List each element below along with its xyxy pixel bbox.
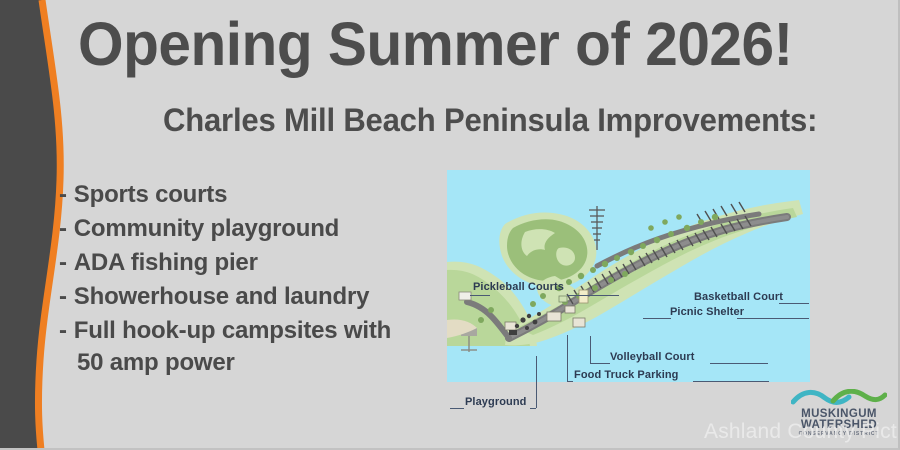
list-item: - Sports courts bbox=[59, 180, 459, 210]
wave-icon bbox=[791, 389, 887, 408]
improvements-list: - Sports courts - Community playground -… bbox=[59, 180, 459, 378]
list-item: - ADA fishing pier bbox=[59, 248, 459, 278]
list-item: - Community playground bbox=[59, 214, 459, 244]
leader-line-foodtruck-vert bbox=[567, 335, 568, 382]
bullet-dash: - bbox=[59, 248, 67, 278]
leader-line-volleyball bbox=[590, 363, 610, 364]
bullet-dash: - bbox=[59, 282, 67, 312]
bullet-dash: - bbox=[59, 316, 67, 346]
map-label-pickleball-courts: Pickleball Courts bbox=[473, 281, 564, 293]
map-label-playground: Playground bbox=[465, 396, 527, 408]
leader-line-picnic-left bbox=[643, 318, 671, 319]
leader-line-playground-vert bbox=[536, 356, 537, 408]
bullet-dash: - bbox=[59, 214, 67, 244]
list-item-continuation: 50 amp power bbox=[59, 348, 459, 378]
list-item-label: Sports courts bbox=[74, 180, 459, 210]
leader-line-volleyball-vert bbox=[590, 336, 591, 364]
leader-line-picnic bbox=[737, 318, 809, 319]
list-item-label: Community playground bbox=[74, 214, 459, 244]
list-item-label: ADA fishing pier bbox=[74, 248, 459, 278]
leader-line-playground-left bbox=[450, 408, 464, 409]
subheadline: Charles Mill Beach Peninsula Improvement… bbox=[163, 104, 900, 136]
map-label-volleyball-court: Volleyball Court bbox=[610, 351, 695, 363]
list-item: - Showerhouse and laundry bbox=[59, 282, 459, 312]
headline: Opening Summer of 2026! bbox=[78, 14, 846, 75]
map-label-food-truck-parking: Food Truck Parking bbox=[574, 369, 679, 381]
list-item-label: Full hook-up campsites with bbox=[74, 316, 459, 346]
map-label-basketball-court: Basketball Court bbox=[694, 291, 783, 303]
leader-line-pickleball bbox=[470, 295, 490, 296]
poster-announcement: Opening Summer of 2026! Charles Mill Bea… bbox=[0, 0, 900, 450]
leader-line-volleyball-right bbox=[710, 363, 768, 364]
leader-line-playground bbox=[530, 408, 536, 409]
list-item-label: Showerhouse and laundry bbox=[74, 282, 459, 312]
map-label-picnic-shelter: Picnic Shelter bbox=[670, 306, 744, 318]
list-item: - Full hook-up campsites with bbox=[59, 316, 459, 346]
leader-line-pickleball-right bbox=[567, 295, 619, 296]
leader-line-foodtruck-right bbox=[693, 381, 769, 382]
leader-line-basketball bbox=[779, 303, 809, 304]
bullet-dash: - bbox=[59, 180, 67, 210]
watermark: Ashland County Pictures bbox=[704, 420, 900, 444]
